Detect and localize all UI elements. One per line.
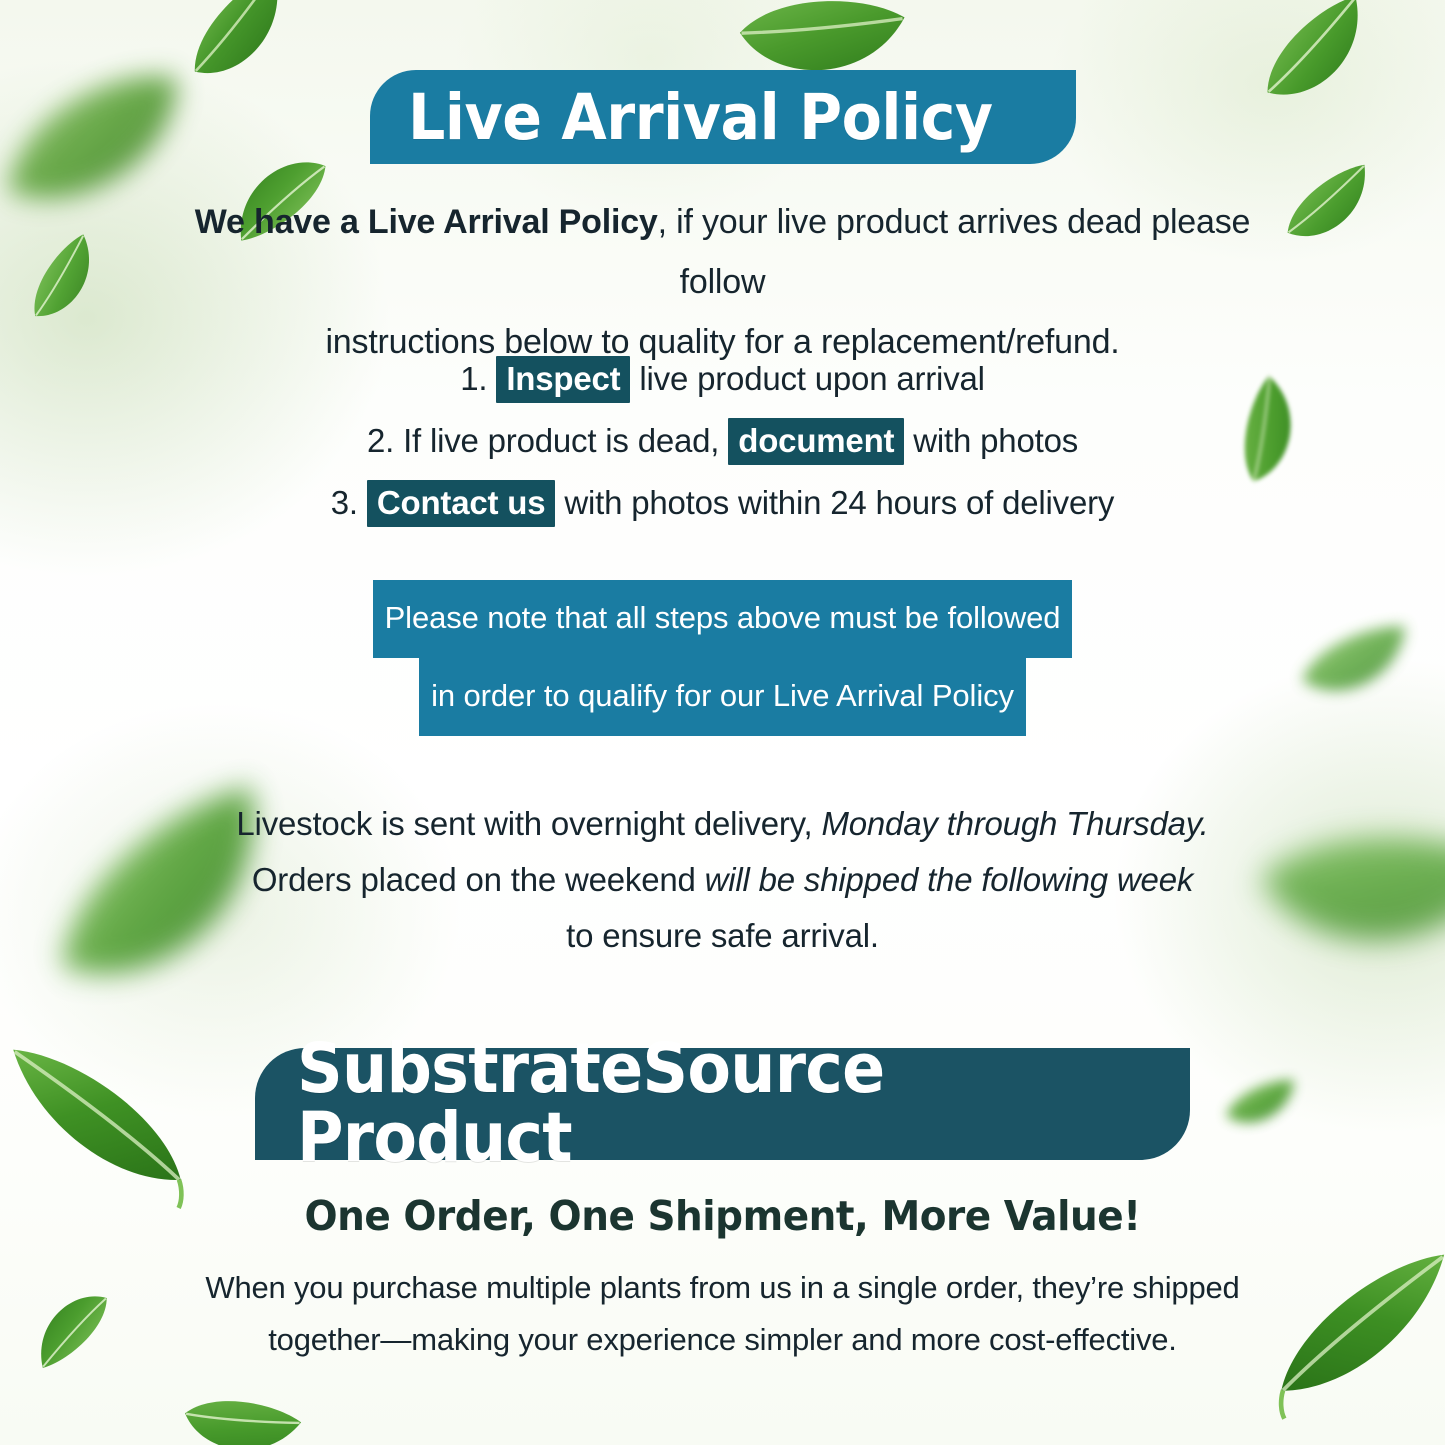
policy-note-line-1: Please note that all steps above must be… <box>373 580 1073 658</box>
step-text-pre: If live product is dead, <box>403 422 719 459</box>
policy-intro-bold: We have a Live Arrival Policy <box>195 203 658 241</box>
list-item: 1. Inspect live product upon arrival <box>150 348 1295 410</box>
substratesource-product-title: SubstrateSource Product <box>297 1035 1119 1173</box>
shipping-line-2-italic: will be shipped the following week <box>705 861 1194 898</box>
policy-intro-rest: , if your live product arrives dead plea… <box>658 203 1251 301</box>
product-blurb-line-1: When you purchase multiple plants from u… <box>150 1262 1295 1314</box>
step-text: with photos within 24 hours of delivery <box>564 484 1114 521</box>
product-blurb: When you purchase multiple plants from u… <box>150 1262 1295 1366</box>
step-number: 3. <box>331 484 358 521</box>
live-arrival-policy-title: Live Arrival Policy <box>408 86 993 149</box>
policy-note-block: Please note that all steps above must be… <box>150 580 1295 736</box>
list-item: 3. Contact us with photos within 24 hour… <box>150 472 1295 534</box>
live-arrival-policy-banner: Live Arrival Policy <box>370 70 1076 164</box>
policy-steps-list: 1. Inspect live product upon arrival 2. … <box>150 348 1295 534</box>
shipping-schedule-paragraph: Livestock is sent with overnight deliver… <box>150 796 1295 964</box>
shipping-line-1-italic: Monday through Thursday. <box>821 805 1208 842</box>
shipping-line-3: to ensure safe arrival. <box>150 908 1295 964</box>
policy-intro-line-1: We have a Live Arrival Policy, if your l… <box>150 192 1295 312</box>
step-highlight-contact-us: Contact us <box>367 480 556 527</box>
step-highlight-inspect: Inspect <box>496 356 630 403</box>
step-text: live product upon arrival <box>639 360 984 397</box>
list-item: 2. If live product is dead, document wit… <box>150 410 1295 472</box>
shipping-line-2-plain: Orders placed on the weekend <box>252 861 696 898</box>
substratesource-product-banner: SubstrateSource Product <box>255 1048 1190 1160</box>
promo-graphic: Live Arrival Policy We have a Live Arriv… <box>0 0 1445 1445</box>
step-text: with photos <box>913 422 1078 459</box>
shipping-line-1-plain: Livestock is sent with overnight deliver… <box>236 805 812 842</box>
shipping-line-2: Orders placed on the weekend will be shi… <box>150 852 1295 908</box>
policy-note-line-2: in order to qualify for our Live Arrival… <box>419 658 1026 736</box>
step-highlight-document: document <box>728 418 904 465</box>
shipping-line-1: Livestock is sent with overnight deliver… <box>150 796 1295 852</box>
policy-intro-paragraph: We have a Live Arrival Policy, if your l… <box>150 192 1295 372</box>
step-number: 1. <box>460 360 487 397</box>
product-blurb-line-2: together—making your experience simpler … <box>150 1314 1295 1366</box>
step-number: 2. <box>367 422 394 459</box>
product-subheading: One Order, One Shipment, More Value! <box>179 1192 1267 1240</box>
